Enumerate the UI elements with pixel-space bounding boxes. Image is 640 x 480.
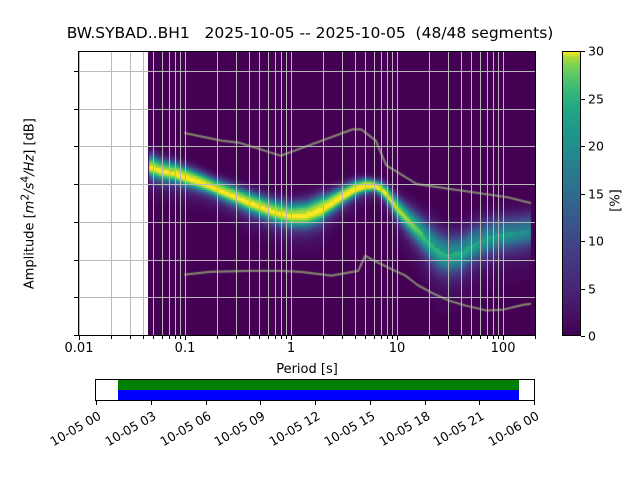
x-tick-mark-minor <box>286 336 287 339</box>
data-coverage-timeline[interactable] <box>95 379 535 401</box>
colorbar-tick-mark <box>581 99 585 100</box>
x-tick-mark-minor <box>130 336 131 339</box>
x-tick-mark-minor <box>111 336 112 339</box>
gridline-vertical <box>381 52 382 335</box>
gridline-vertical <box>291 52 292 335</box>
x-tick-mark-minor <box>498 336 499 339</box>
timeline-tick-mark <box>260 401 261 405</box>
gridline-vertical <box>217 52 218 335</box>
colorbar-tick-mark <box>581 241 585 242</box>
gridline-horizontal <box>79 222 535 223</box>
gridline-vertical <box>355 52 356 335</box>
y-tick-mark <box>74 109 78 110</box>
gridline-vertical <box>111 52 112 335</box>
gridline-vertical <box>392 52 393 335</box>
gridline-vertical <box>471 52 472 335</box>
x-tick-label: 1 <box>287 341 295 356</box>
x-tick-mark-minor <box>236 336 237 339</box>
timeline-tick-mark <box>370 401 371 405</box>
colorbar-tick-label: 30 <box>588 44 604 59</box>
timeline-tick-mark <box>534 401 535 405</box>
x-tick-mark-minor <box>259 336 260 339</box>
x-tick-mark-minor <box>471 336 472 339</box>
x-tick-mark-minor <box>217 336 218 339</box>
x-tick-mark-minor <box>365 336 366 339</box>
gridline-vertical <box>493 52 494 335</box>
colorbar-tick-mark <box>581 336 585 337</box>
gridline-horizontal <box>79 71 535 72</box>
gridline-vertical <box>162 52 163 335</box>
x-tick-mark-minor <box>249 336 250 339</box>
x-tick-mark-major <box>185 336 186 340</box>
x-tick-mark-major <box>503 336 504 340</box>
gridline-vertical <box>185 52 186 335</box>
gridline-vertical <box>461 52 462 335</box>
timeline-tick-mark <box>206 401 207 405</box>
gridline-vertical <box>535 52 536 335</box>
gridline-vertical <box>130 52 131 335</box>
x-tick-mark-minor <box>342 336 343 339</box>
colorbar-tick-mark <box>581 289 585 290</box>
gridline-vertical <box>275 52 276 335</box>
x-tick-mark-minor <box>162 336 163 339</box>
x-tick-mark-minor <box>153 336 154 339</box>
timeline-tick-label: 10-05 09 <box>207 408 268 452</box>
x-axis-label: Period [s] <box>78 362 536 377</box>
timeline-tick-label: 10-06 00 <box>480 408 541 452</box>
y-tick-mark <box>74 146 78 147</box>
gridline-vertical <box>268 52 269 335</box>
y-axis-label: Amplitude [m2/s4/Hz] [dB] <box>18 54 37 354</box>
timeline-tick-mark <box>425 401 426 405</box>
gridline-vertical <box>487 52 488 335</box>
x-tick-mark-minor <box>281 336 282 339</box>
colorbar-tick-label: 15 <box>588 186 604 201</box>
colorbar-label: [%] <box>609 151 624 251</box>
gridline-vertical <box>498 52 499 335</box>
timeline-tick-label: 10-05 15 <box>316 408 377 452</box>
gridline-vertical <box>259 52 260 335</box>
x-tick-mark-minor <box>323 336 324 339</box>
gridline-horizontal <box>79 109 535 110</box>
colorbar-tick-label: 5 <box>588 281 596 296</box>
timeline-tick-label: 10-05 00 <box>42 408 103 452</box>
gridline-vertical <box>281 52 282 335</box>
timeline-tick-label: 10-05 06 <box>152 408 213 452</box>
x-tick-mark-minor <box>268 336 269 339</box>
ppsd-density-field <box>79 52 535 335</box>
timeline-tick-label: 10-05 18 <box>371 408 432 452</box>
gridline-vertical <box>79 52 80 335</box>
x-tick-mark-minor <box>487 336 488 339</box>
x-tick-mark-minor <box>374 336 375 339</box>
gridline-vertical <box>249 52 250 335</box>
gridline-vertical <box>480 52 481 335</box>
gridline-vertical <box>153 52 154 335</box>
noise-model-canvas <box>79 52 535 335</box>
gridline-vertical <box>180 52 181 335</box>
colorbar-tick-mark <box>581 194 585 195</box>
x-tick-label: 0.1 <box>175 341 196 356</box>
colorbar-tick-label: 25 <box>588 91 604 106</box>
x-tick-mark-minor <box>180 336 181 339</box>
y-tick-mark <box>74 297 78 298</box>
x-tick-mark-minor <box>275 336 276 339</box>
x-tick-mark-minor <box>355 336 356 339</box>
x-tick-mark-major <box>397 336 398 340</box>
gridline-horizontal <box>79 146 535 147</box>
timeline-tick-label: 10-05 21 <box>426 408 487 452</box>
gridline-vertical <box>286 52 287 335</box>
gridline-horizontal <box>79 297 535 298</box>
colorbar-tick-label: 20 <box>588 139 604 154</box>
x-tick-mark-major <box>79 336 80 340</box>
colorbar-tick-mark <box>581 51 585 52</box>
data-coverage-green <box>118 380 519 390</box>
x-tick-mark-minor <box>169 336 170 339</box>
colorbar[interactable] <box>562 51 581 336</box>
timeline-tick-label: 10-05 03 <box>97 408 158 452</box>
data-coverage-blue <box>118 390 519 400</box>
gridline-vertical <box>429 52 430 335</box>
timeline-tick-mark <box>151 401 152 405</box>
colorbar-tick-mark <box>581 146 585 147</box>
gridline-vertical <box>374 52 375 335</box>
timeline-tick-label: 10-05 12 <box>261 408 322 452</box>
gridline-vertical <box>143 52 144 335</box>
x-tick-mark-minor <box>535 336 536 339</box>
timeline-tick-mark <box>315 401 316 405</box>
colorbar-tick-label: 10 <box>588 234 604 249</box>
x-tick-mark-minor <box>461 336 462 339</box>
y-tick-mark <box>74 260 78 261</box>
y-tick-mark <box>74 222 78 223</box>
timeline-tick-mark <box>479 401 480 405</box>
gridline-horizontal <box>79 184 535 185</box>
timeline-tick-mark <box>96 401 97 405</box>
x-tick-mark-minor <box>392 336 393 339</box>
x-tick-mark-minor <box>480 336 481 339</box>
y-tick-mark <box>74 184 78 185</box>
gridline-vertical <box>323 52 324 335</box>
x-tick-mark-minor <box>175 336 176 339</box>
x-tick-mark-minor <box>493 336 494 339</box>
gridline-vertical <box>169 52 170 335</box>
colorbar-tick-label: 0 <box>588 329 596 344</box>
x-tick-mark-minor <box>387 336 388 339</box>
gridline-horizontal <box>79 335 535 336</box>
gridline-vertical <box>175 52 176 335</box>
x-tick-mark-minor <box>143 336 144 339</box>
gridline-vertical <box>397 52 398 335</box>
gridline-vertical <box>387 52 388 335</box>
ppsd-plot-axes[interactable] <box>78 51 536 336</box>
y-tick-mark <box>74 335 78 336</box>
page-title: BW.SYBAD..BH1 2025-10-05 -- 2025-10-05 (… <box>0 24 620 42</box>
gridline-vertical <box>236 52 237 335</box>
x-tick-mark-minor <box>448 336 449 339</box>
gridline-vertical <box>503 52 504 335</box>
gridline-vertical <box>448 52 449 335</box>
x-tick-mark-major <box>291 336 292 340</box>
gridline-vertical <box>342 52 343 335</box>
x-tick-label: 10 <box>389 341 406 356</box>
gridline-horizontal <box>79 260 535 261</box>
x-tick-label: 0.01 <box>65 341 94 356</box>
x-tick-label: 100 <box>491 341 516 356</box>
x-tick-mark-minor <box>429 336 430 339</box>
y-tick-mark <box>74 71 78 72</box>
x-tick-mark-minor <box>381 336 382 339</box>
gridline-vertical <box>365 52 366 335</box>
